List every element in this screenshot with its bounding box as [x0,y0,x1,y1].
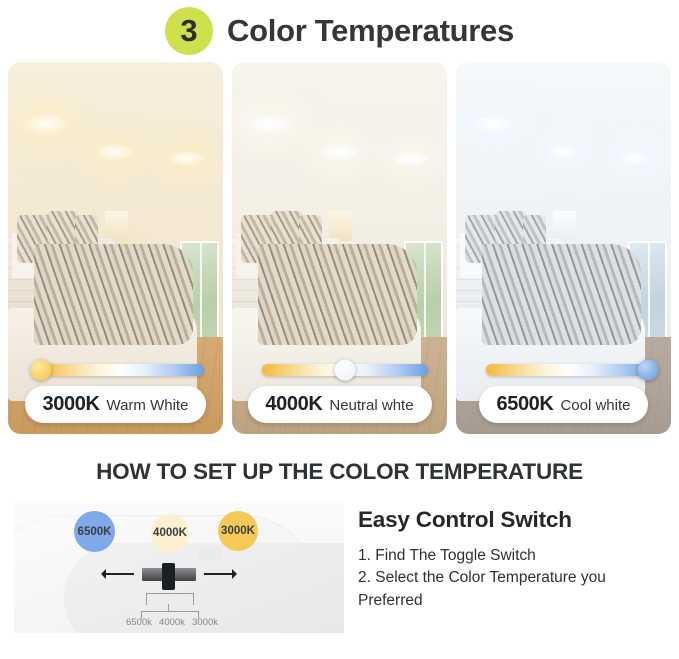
howto-section: 6500K 4000K 3000K 6500k 4000k 3000k Easy… [0,485,679,633]
bracket-stem [168,604,169,611]
howto-step-2: 2. Select the Color Temperature you Pref… [358,567,667,612]
kelvin-name: Neutral whte [329,397,413,414]
color-temperature-panels: 3000K Warm White [0,62,679,434]
label-pill-3000k: 3000K Warm White [25,386,207,423]
header: 3 Color Temperatures [0,0,679,62]
bubble-4000k: 4000K [151,514,189,552]
panel-4000k[interactable]: 4000K Neutral whte [232,62,447,434]
step-number-badge: 3 [165,7,213,55]
toggle-switch-lever[interactable] [162,563,175,590]
panel-3000k[interactable]: 3000K Warm White [8,62,223,434]
duvet [482,244,641,344]
kelvin-value: 6500K [497,393,554,416]
slider-knob[interactable] [638,360,659,381]
label-pill-4000k: 4000K Neutral whte [247,386,431,423]
ceiling-light-icon [96,144,134,160]
ceiling-light-icon [544,144,582,160]
fixture-tab [199,547,221,561]
howto-text-column: Easy Control Switch 1. Find The Toggle S… [358,501,667,633]
bracket-line [146,593,194,605]
label-pill-6500k: 6500K Cool white [479,386,649,423]
arrow-right-icon [204,573,236,575]
ceiling-light-icon [23,114,69,134]
arrow-left-icon [102,573,134,575]
kelvin-value: 3000K [43,393,100,416]
kelvin-value: 4000K [265,393,322,416]
color-temperature-slider-3000k[interactable] [38,364,204,376]
color-temperature-slider-6500k[interactable] [486,364,652,376]
slider-knob[interactable] [334,360,355,381]
howto-step-1: 1. Find The Toggle Switch [358,545,667,567]
kelvin-name: Warm White [106,397,188,414]
color-temperature-slider-4000k[interactable] [262,364,428,376]
ceiling-light-icon [320,144,358,160]
howto-section-title: HOW TO SET UP THE COLOR TEMPERATURE [0,459,679,485]
duvet [258,244,417,344]
switch-label-6500k: 6500k [126,617,152,628]
page-title: Color Temperatures [227,13,514,49]
bubble-3000k: 3000K [218,511,258,551]
bubble-6500k: 6500K [74,511,115,552]
duvet [34,244,193,344]
switch-position-labels: 6500k 4000k 3000k [126,617,218,628]
switch-label-4000k: 4000k [159,617,185,628]
panel-6500k[interactable]: 6500K Cool white [456,62,671,434]
kelvin-name: Cool white [560,397,630,414]
switch-diagram: 6500K 4000K 3000K 6500k 4000k 3000k [14,501,344,633]
bedroom-photo-cool [456,62,671,434]
switch-label-3000k: 3000k [192,617,218,628]
ceiling-light-icon [471,114,517,134]
slider-knob[interactable] [31,360,52,381]
easy-control-switch-heading: Easy Control Switch [358,507,667,533]
ceiling-light-icon [247,114,293,134]
